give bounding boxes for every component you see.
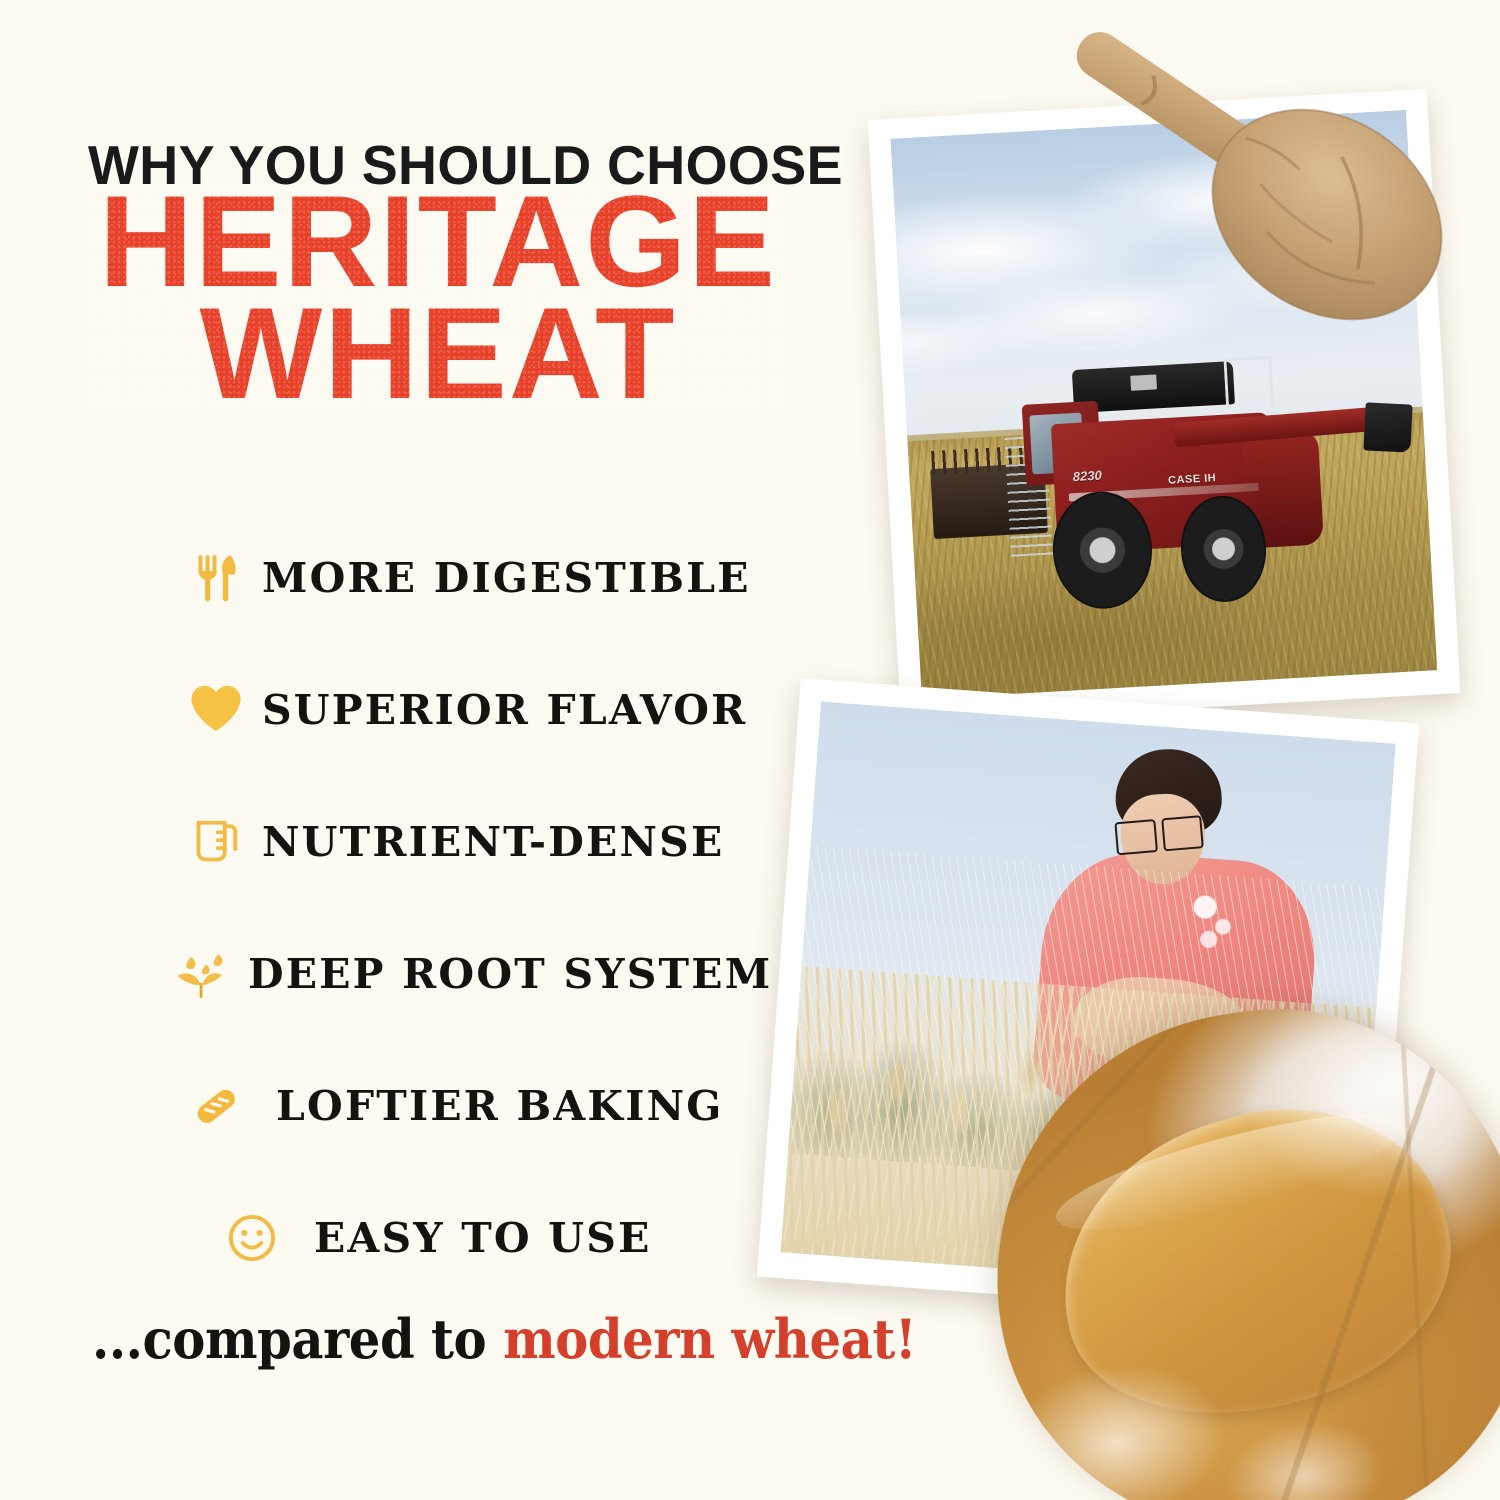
text-column: WHY YOU SHOULD CHOOSE HERITAGE WHEAT — [0, 0, 860, 1500]
smiley-face-icon — [206, 1211, 298, 1265]
benefit-label: EASY TO USE — [314, 1214, 652, 1262]
headline-line-2: WHEAT — [88, 298, 788, 410]
tagline-prefix: ...compared to — [92, 1307, 503, 1371]
benefit-item-easy-to-use: EASY TO USE — [170, 1172, 790, 1304]
page-title: HERITAGE WHEAT — [88, 186, 788, 410]
fork-knife-icon — [170, 550, 262, 606]
tagline: ...compared to modern wheat! — [92, 1307, 916, 1371]
combine-handrail — [1223, 356, 1275, 410]
benefit-label: NUTRIENT-DENSE — [262, 818, 724, 866]
benefit-label: SUPERIOR FLAVOR — [262, 686, 747, 734]
bread-loaf-photo — [959, 974, 1500, 1500]
benefit-item-more-digestible: MORE DIGESTIBLE — [170, 512, 790, 644]
benefit-label: MORE DIGESTIBLE — [262, 554, 751, 602]
photo-combine-image: 8230 CASE IH — [891, 110, 1438, 699]
photo-combine-harvester: 8230 CASE IH — [868, 89, 1461, 724]
benefit-item-nutrient-dense: NUTRIENT-DENSE — [170, 776, 790, 908]
benefits-list: MORE DIGESTIBLE SUPERIOR FLAVOR — [170, 512, 790, 1304]
combine-model-number: 8230 — [1072, 468, 1102, 485]
tagline-accent: modern wheat! — [503, 1307, 916, 1371]
measuring-cup-icon — [170, 814, 262, 870]
benefit-item-superior-flavor: SUPERIOR FLAVOR — [170, 644, 790, 776]
sprout-icon — [156, 944, 248, 1004]
combine-auger-spout — [1364, 402, 1414, 453]
benefit-label: LOFTIER BAKING — [276, 1082, 724, 1130]
bread-loaf-icon — [170, 1078, 262, 1134]
heart-icon — [170, 682, 262, 738]
combine-harvester-graphic: 8230 CASE IH — [924, 335, 1413, 630]
benefit-label: DEEP ROOT SYSTEM — [248, 950, 772, 998]
benefit-item-deep-root-system: DEEP ROOT SYSTEM — [170, 908, 790, 1040]
benefit-item-loftier-baking: LOFTIER BAKING — [170, 1040, 790, 1172]
bread-crust-cracks — [959, 974, 1500, 1500]
infographic-canvas: 8230 CASE IH — [0, 0, 1500, 1500]
